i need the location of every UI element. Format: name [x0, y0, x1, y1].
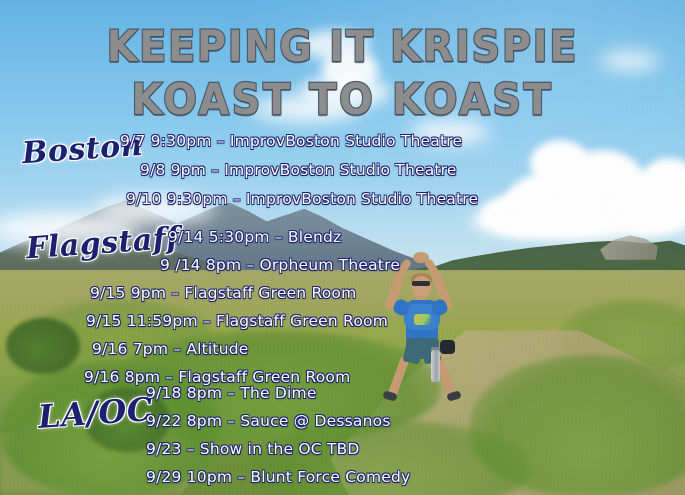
listing-item: 9/16 7pm – Altitude — [92, 342, 249, 358]
listing-item: 9/15 11:59pm – Flagstaff Green Room — [86, 314, 388, 330]
listing-item: 9/14 5:30pm – Blendz — [168, 230, 341, 246]
listing-item: 9/15 9pm – Flagstaff Green Room — [90, 286, 356, 302]
title-line-1: KEEPING IT KRISPIE — [27, 26, 657, 69]
text-overlay: KEEPING IT KRISPIE KOAST TO KOAST Boston… — [0, 0, 685, 495]
section-boston: Boston 9/7 9:30pm – ImprovBoston Studio … — [0, 128, 685, 218]
listing-item: 9 /14 8pm – Orpheum Theatre — [160, 258, 400, 274]
poster-title: KEEPING IT KRISPIE KOAST TO KOAST — [0, 26, 685, 122]
listing-item: 9/10 9:30pm – ImprovBoston Studio Theatr… — [126, 192, 478, 208]
listing-item: 9/22 8pm – Sauce @ Dessanos — [146, 414, 391, 430]
listing-item: 9/8 9pm – ImprovBoston Studio Theatre — [140, 163, 457, 179]
listing-item: 9/18 8pm – The Dime — [146, 386, 317, 402]
section-flagstaff: Flagstaff 9/14 5:30pm – Blendz 9 /14 8pm… — [0, 224, 685, 374]
section-laoc: LA/OC 9/18 8pm – The Dime 9/22 8pm – Sau… — [0, 382, 685, 492]
listing-item: 9/7 9:30pm – ImprovBoston Studio Theatre — [120, 134, 462, 150]
city-heading-flagstaff: Flagstaff — [25, 221, 181, 267]
listing-item: 9/29 10pm – Blunt Force Comedy — [146, 470, 410, 486]
city-heading-laoc: LA/OC — [37, 390, 154, 436]
tour-poster: KEEPING IT KRISPIE KOAST TO KOAST Boston… — [0, 0, 685, 495]
listing-item: 9/23 – Show in the OC TBD — [146, 442, 360, 458]
title-line-2: KOAST TO KOAST — [27, 79, 657, 122]
